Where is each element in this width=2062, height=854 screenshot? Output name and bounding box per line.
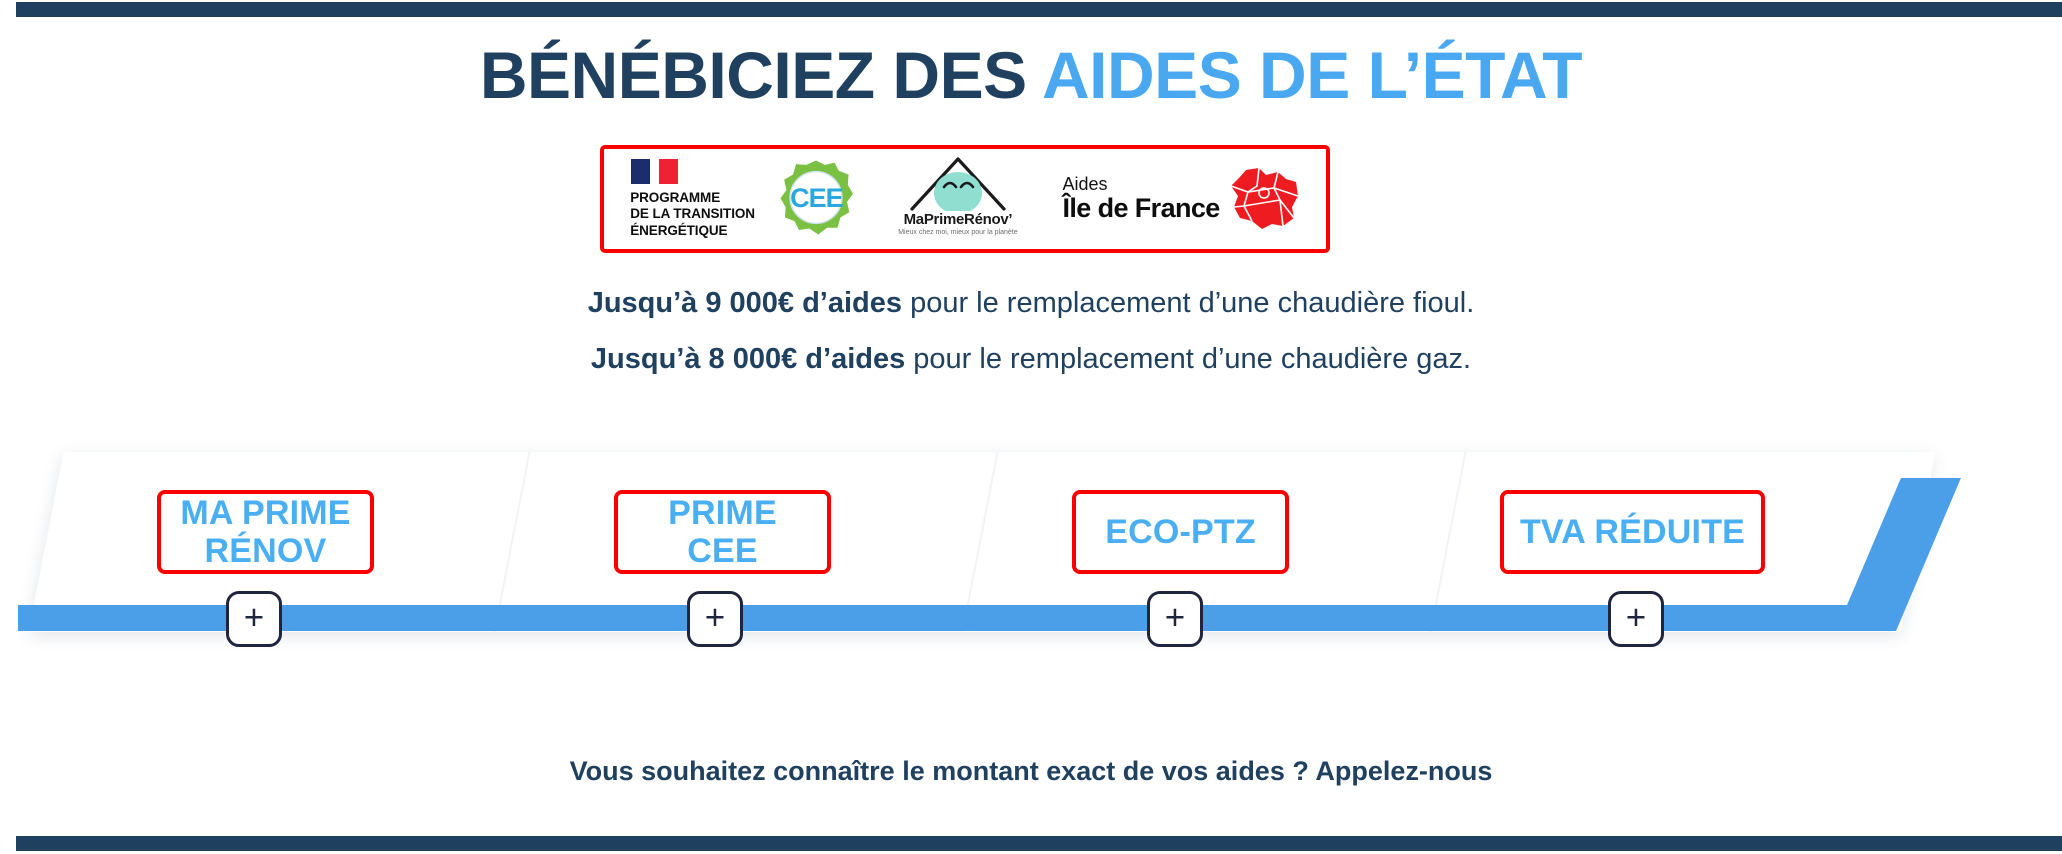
aide-amount-fioul-text: pour le remplacement d’une chaudière fio… <box>902 287 1474 319</box>
logo-programme-transition-energetique: PROGRAMME DE LA TRANSITION ÉNERGÉTIQUE <box>630 149 755 249</box>
blue-progress-bar <box>18 605 1868 631</box>
aide-amount-fioul-value: Jusqu’à 9 000€ d’aides <box>588 287 902 319</box>
page-title: BÉNÉBICIEZ DES AIDES DE L’ÉTAT <box>0 42 2062 108</box>
idf-line-1: Aides <box>1062 175 1219 194</box>
aide-button-ma-prime-renov[interactable]: MA PRIME RÉNOV <box>157 490 374 574</box>
pte-line-1: PROGRAMME <box>630 190 755 206</box>
expand-button-eco-ptz[interactable]: + <box>1147 591 1203 647</box>
footer-cta-text: Vous souhaitez connaître le montant exac… <box>0 756 2062 787</box>
logo-maprimerenov: MaPrimeRénov’ Mieux chez moi, mieux pour… <box>878 149 1038 249</box>
aide-amount-gaz-value: Jusqu’à 8 000€ d’aides <box>591 343 905 375</box>
aide-amount-gaz-text: pour le remplacement d’une chaudière gaz… <box>905 343 1471 375</box>
maprimerenov-tagline: Mieux chez moi, mieux pour la planète <box>878 229 1038 236</box>
partner-logos-strip: PROGRAMME DE LA TRANSITION ÉNERGÉTIQUE C… <box>600 145 1330 253</box>
pte-line-3: ÉNERGÉTIQUE <box>630 223 755 239</box>
aide-button-tva-reduite[interactable]: TVA RÉDUITE <box>1500 490 1765 574</box>
aide-amount-line-fioul: Jusqu’à 9 000€ d’aides pour le remplacem… <box>0 287 2062 320</box>
aide-button-eco-ptz[interactable]: ECO-PTZ <box>1072 490 1289 574</box>
page-title-dark-segment: BÉNÉBICIEZ DES <box>480 38 1042 112</box>
ile-de-france-map-icon <box>1226 166 1300 232</box>
pte-line-2: DE LA TRANSITION <box>630 206 755 222</box>
expand-button-prime-cee[interactable]: + <box>687 591 743 647</box>
aide-button-prime-cee[interactable]: PRIME CEE <box>614 490 831 574</box>
top-divider-bar <box>16 2 2062 17</box>
maprimerenov-label: MaPrimeRénov’ <box>878 211 1038 228</box>
cee-label: CEE <box>779 159 853 239</box>
bottom-divider-bar <box>16 836 2062 851</box>
expand-button-ma-prime-renov[interactable]: + <box>226 591 282 647</box>
aide-amount-line-gaz: Jusqu’à 8 000€ d’aides pour le remplacem… <box>0 343 2062 376</box>
logo-cee: CEE <box>779 149 853 249</box>
house-roof-icon <box>904 153 1012 211</box>
idf-line-2: Île de France <box>1062 194 1219 222</box>
french-flag-icon <box>631 159 678 184</box>
expand-button-tva-reduite[interactable]: + <box>1608 591 1664 647</box>
page-title-light-segment: AIDES DE L’ÉTAT <box>1042 38 1582 112</box>
logo-aides-ile-de-france: Aides Île de France <box>1062 149 1299 249</box>
